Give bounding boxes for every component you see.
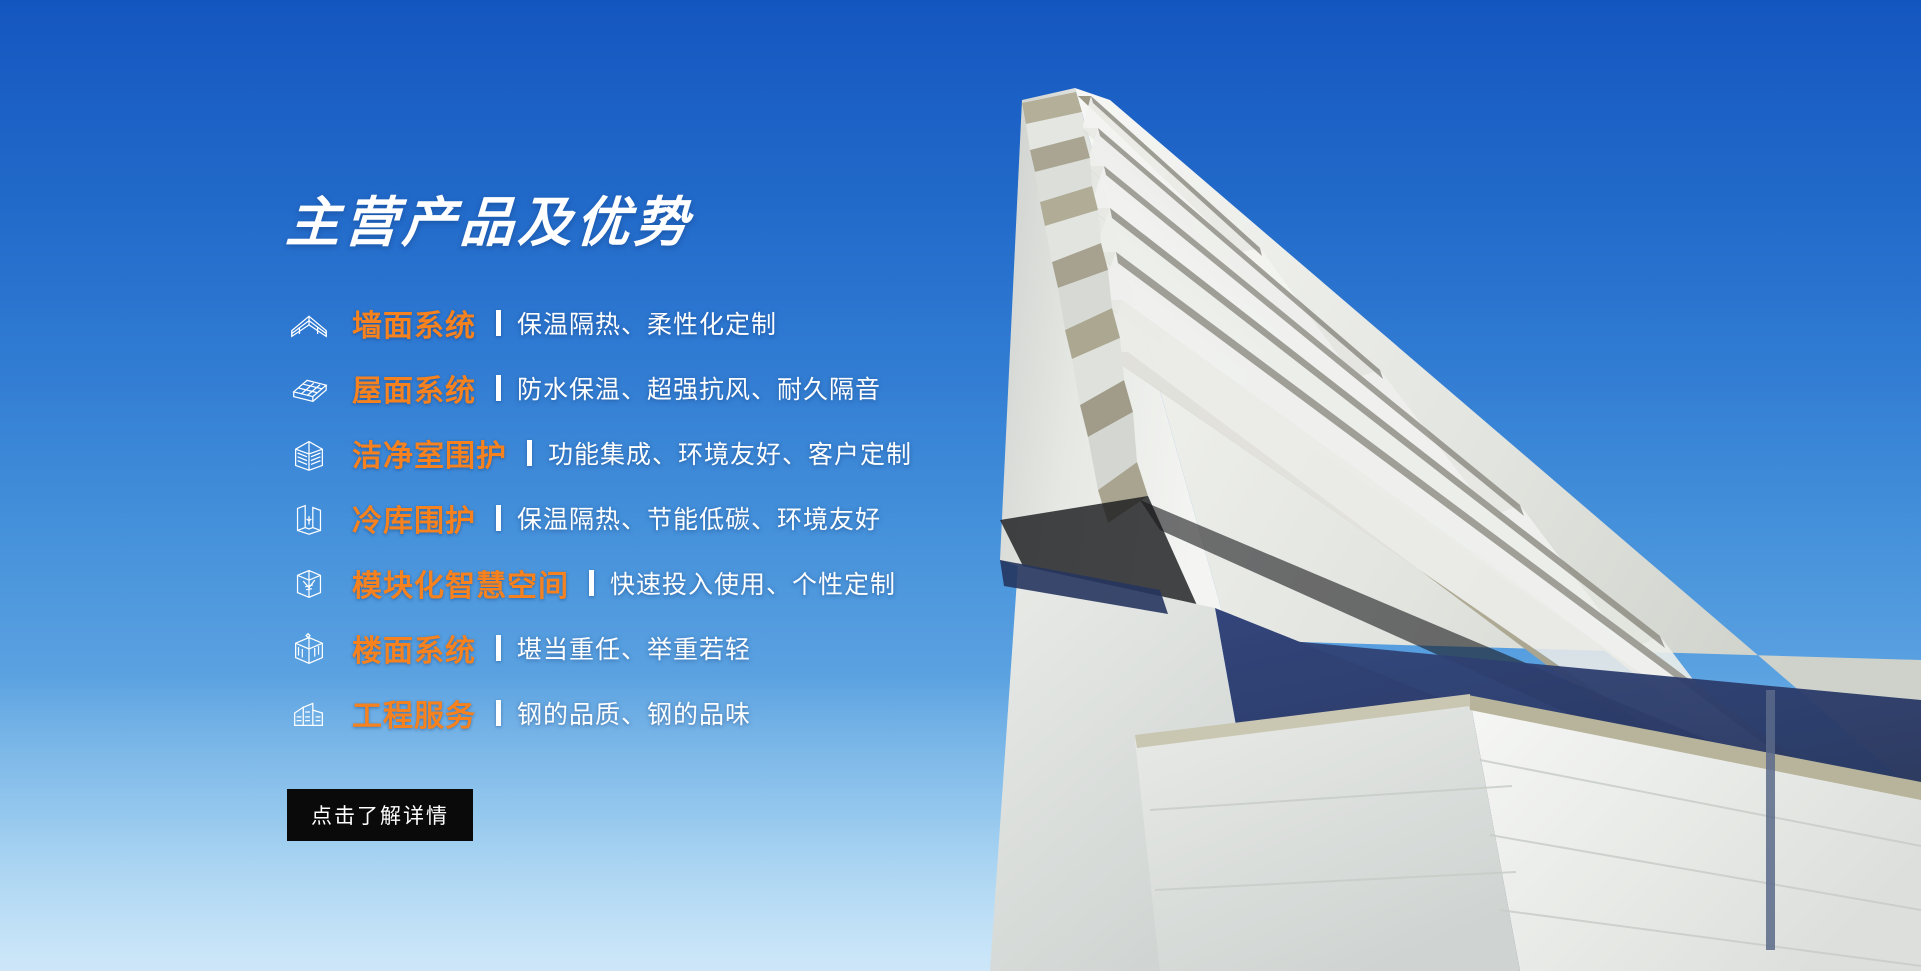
feature-list: 墙面系统 保温隔热、柔性化定制 屋面系统 防水保温、超强抗风、 <box>286 290 1066 745</box>
feature-separator <box>496 375 501 401</box>
feature-title: 冷库围护 <box>352 496 476 540</box>
feature-separator <box>496 700 501 726</box>
cold-storage-icon <box>286 497 332 539</box>
feature-separator <box>589 570 594 596</box>
feature-item-engineering-service[interactable]: 工程服务 钢的品质、钢的品味 <box>286 680 1066 745</box>
cleanroom-icon <box>286 432 332 474</box>
feature-desc: 功能集成、环境友好、客户定制 <box>548 435 912 471</box>
feature-title: 工程服务 <box>352 691 476 735</box>
downpipe <box>1766 690 1775 950</box>
feature-title: 墙面系统 <box>352 301 476 345</box>
feature-title: 楼面系统 <box>352 626 476 670</box>
promo-banner: 主营产品及优势 墙面系统 保温隔热、柔性化定制 <box>0 0 1921 971</box>
feature-separator <box>496 505 501 531</box>
engineering-icon <box>286 692 332 734</box>
feature-item-roof-system[interactable]: 屋面系统 防水保温、超强抗风、耐久隔音 <box>286 355 1066 420</box>
page-title: 主营产品及优势 <box>285 196 1068 250</box>
feature-desc: 保温隔热、节能低碳、环境友好 <box>517 500 881 536</box>
feature-item-cold-storage[interactable]: 冷库围护 保温隔热、节能低碳、环境友好 <box>286 485 1066 550</box>
feature-item-modular-space[interactable]: 模块化智慧空间 快速投入使用、个性定制 <box>286 550 1066 615</box>
feature-desc: 堪当重任、举重若轻 <box>517 630 751 666</box>
feature-title: 屋面系统 <box>352 366 476 410</box>
wall-panel-icon <box>286 302 332 344</box>
feature-separator <box>496 635 501 661</box>
feature-desc: 快速投入使用、个性定制 <box>610 565 896 601</box>
roof-panel-icon <box>286 367 332 409</box>
feature-separator <box>527 440 532 466</box>
feature-separator <box>496 310 501 336</box>
feature-title: 洁净室围护 <box>352 431 507 475</box>
modular-cube-icon <box>286 562 332 604</box>
feature-item-floor-system[interactable]: 楼面系统 堪当重任、举重若轻 <box>286 615 1066 680</box>
feature-title: 模块化智慧空间 <box>352 561 569 605</box>
feature-item-cleanroom[interactable]: 洁净室围护 功能集成、环境友好、客户定制 <box>286 420 1066 485</box>
feature-item-wall-system[interactable]: 墙面系统 保温隔热、柔性化定制 <box>286 290 1066 355</box>
feature-desc: 钢的品质、钢的品味 <box>517 695 751 731</box>
feature-desc: 防水保温、超强抗风、耐久隔音 <box>517 370 881 406</box>
learn-more-button[interactable]: 点击了解详情 <box>287 789 473 841</box>
banner-content: 主营产品及优势 墙面系统 保温隔热、柔性化定制 <box>286 196 1066 841</box>
floor-system-icon <box>286 627 332 669</box>
feature-desc: 保温隔热、柔性化定制 <box>517 305 777 341</box>
